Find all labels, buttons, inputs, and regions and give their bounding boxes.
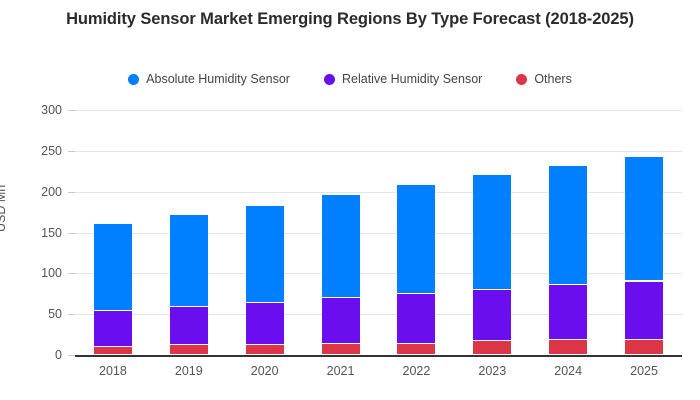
x-tick-label: 2019 [159, 364, 219, 378]
gridline [75, 110, 682, 111]
bar-segment[interactable] [94, 311, 132, 346]
gridline [75, 151, 682, 152]
bar-segment[interactable] [170, 307, 208, 344]
bar-segment[interactable] [549, 166, 587, 284]
y-tick-mark [68, 273, 75, 274]
bar-group[interactable] [397, 110, 435, 355]
x-tick-label: 2020 [235, 364, 295, 378]
bar-group[interactable] [625, 110, 663, 355]
bar-segment[interactable] [322, 298, 360, 344]
x-tick-label: 2023 [462, 364, 522, 378]
y-tick-label: 0 [22, 348, 62, 362]
y-tick-mark [68, 110, 75, 111]
x-tick-label: 2021 [311, 364, 371, 378]
y-tick-mark [68, 233, 75, 234]
bar-segment[interactable] [397, 294, 435, 343]
y-tick-label: 150 [22, 226, 62, 240]
bar-group[interactable] [94, 110, 132, 355]
bar-segment[interactable] [549, 340, 587, 354]
chart-container: Humidity Sensor Market Emerging Regions … [0, 0, 700, 400]
plot-area [75, 110, 682, 355]
gridline [75, 314, 682, 315]
bar-segment[interactable] [246, 345, 284, 354]
bar-segment[interactable] [625, 340, 663, 354]
bar-segment[interactable] [94, 347, 132, 354]
bar-segment[interactable] [170, 215, 208, 306]
bar-segment[interactable] [322, 344, 360, 354]
bar-segment[interactable] [322, 195, 360, 297]
bar-group[interactable] [170, 110, 208, 355]
y-tick-mark [68, 151, 75, 152]
bar-segment[interactable] [170, 345, 208, 354]
x-tick-label: 2018 [83, 364, 143, 378]
bar-segment[interactable] [246, 303, 284, 344]
bar-segment[interactable] [397, 185, 435, 293]
y-tick-mark [68, 314, 75, 315]
bar-segment[interactable] [94, 224, 132, 310]
bar-segment[interactable] [625, 157, 663, 280]
bar-segment[interactable] [473, 290, 511, 340]
bar-group[interactable] [246, 110, 284, 355]
bar-segment[interactable] [625, 282, 663, 340]
bar-segment[interactable] [473, 175, 511, 288]
y-tick-label: 50 [22, 307, 62, 321]
y-tick-label: 250 [22, 144, 62, 158]
y-tick-label: 200 [22, 185, 62, 199]
y-tick-mark [68, 192, 75, 193]
bar-segment[interactable] [549, 285, 587, 340]
bar-segment[interactable] [246, 206, 284, 302]
x-tick-label: 2024 [538, 364, 598, 378]
x-axis-line [75, 355, 682, 357]
y-tick-label: 300 [22, 103, 62, 117]
gridline [75, 233, 682, 234]
bar-segment[interactable] [473, 341, 511, 354]
y-tick-mark [68, 355, 75, 356]
x-tick-label: 2025 [614, 364, 674, 378]
bar-group[interactable] [549, 110, 587, 355]
gridline [75, 192, 682, 193]
x-tick-label: 2022 [386, 364, 446, 378]
bar-segment[interactable] [397, 344, 435, 354]
y-tick-label: 100 [22, 266, 62, 280]
bar-group[interactable] [322, 110, 360, 355]
gridline [75, 273, 682, 274]
bar-group[interactable] [473, 110, 511, 355]
